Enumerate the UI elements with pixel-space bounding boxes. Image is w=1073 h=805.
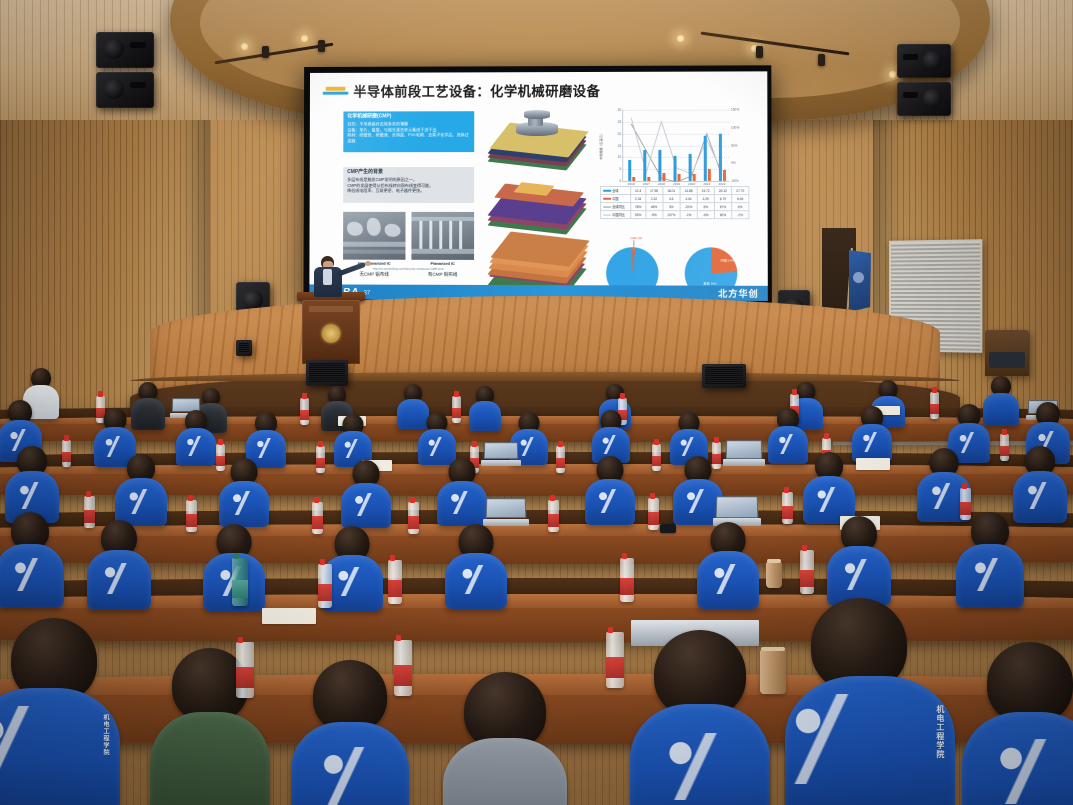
cell: 14.88 <box>680 187 697 195</box>
water-bottle[interactable] <box>300 398 309 425</box>
chart-y2-tick: 50% <box>731 143 737 147</box>
water-bottle[interactable] <box>186 500 197 532</box>
cell: -20% <box>680 203 697 211</box>
audience-member <box>700 522 756 608</box>
audience-member <box>324 526 380 610</box>
audience-member <box>118 454 164 524</box>
chart-y-tick: 30 <box>618 108 622 112</box>
chart-y-axis-title: 市场规模（亿美元） <box>598 132 603 160</box>
slide-title: 半导体前段工艺设备：化学机械研磨设备 <box>353 80 600 101</box>
table-row: 中国同比 93% -5% 107% -1% -6% 60% -2% <box>601 211 749 219</box>
ceiling-spotlight <box>240 42 249 51</box>
cell: 60% <box>714 211 731 219</box>
legend-label-global: 全球 <box>612 189 618 193</box>
audience-member-foreground: 机电工程学院 <box>800 598 940 805</box>
desk-row-3 <box>0 524 1073 564</box>
audience-member <box>960 512 1020 604</box>
table-row: 全球同比 78% 45% 3% -20% 6% 67% 6% <box>601 203 749 211</box>
audience-member <box>448 524 504 608</box>
cell: -1% <box>680 211 697 219</box>
cell: 27.79 <box>731 187 748 195</box>
track-lamp <box>262 46 269 58</box>
water-bottle[interactable] <box>930 392 939 419</box>
audience-member-foreground: 机电工程学院 <box>0 608 100 805</box>
ceiling-spotlight <box>300 34 309 43</box>
track-lamp <box>756 46 763 58</box>
legend-label-china-yoy: 中国同比 <box>612 213 625 217</box>
laptop[interactable] <box>486 498 526 526</box>
audience-member <box>830 516 888 604</box>
cmp-background-line: 降低线电阻率、互联更密、电子器件更快。 <box>347 188 470 194</box>
water-bottle[interactable] <box>312 502 323 534</box>
cell: 6% <box>697 203 714 211</box>
water-bottle[interactable] <box>606 632 624 688</box>
water-bottle[interactable] <box>782 492 793 524</box>
university-emblem <box>322 324 341 343</box>
water-bottle[interactable] <box>316 446 325 473</box>
chart-y2-tick: 100% <box>731 125 739 129</box>
cell: -6% <box>697 211 714 219</box>
audience-member <box>806 452 852 522</box>
water-bottle[interactable] <box>394 640 412 696</box>
sem-caption-right-zh: 有CMP 铜布线 <box>411 271 474 277</box>
cell: 4.25 <box>697 195 714 203</box>
chart-y2-tick: 0% <box>731 161 736 165</box>
sem-image-planarized <box>411 212 474 260</box>
tshirt-text: 机电工程学院 <box>101 714 108 756</box>
laptop[interactable] <box>484 442 518 466</box>
audience-member <box>854 406 890 460</box>
cell: 6.66 <box>732 195 749 203</box>
cell: 4.6 <box>663 195 680 203</box>
cell: 93% <box>631 211 646 219</box>
thermos-bottle[interactable] <box>232 558 248 606</box>
pie-slice-label-china: 中国 24% <box>713 257 741 262</box>
presenter <box>313 256 343 302</box>
cell: 6% <box>732 203 749 211</box>
water-bottle[interactable] <box>648 498 659 530</box>
stage-chair <box>985 330 1029 376</box>
water-bottle[interactable] <box>388 560 402 604</box>
audience-member <box>132 382 164 428</box>
sem-caption-left-zh: 无CMP 铝布线 <box>343 271 405 277</box>
chart-y-tick: 20 <box>618 132 622 136</box>
cell: 15.72 <box>697 187 714 195</box>
water-bottle[interactable] <box>620 558 634 602</box>
audience-member <box>344 460 388 526</box>
cell: 78% <box>631 203 646 211</box>
lecture-hall-photo: 半导体前段工艺设备：化学机械研磨设备 化学机械研磨(CMP) 目的：平坦表面并去… <box>0 0 1073 805</box>
wall-speaker-cabinet <box>897 44 951 78</box>
audience-member-foreground <box>970 642 1073 805</box>
water-bottle[interactable] <box>548 500 559 532</box>
sem-image-non-planarized <box>343 212 405 260</box>
laptop[interactable] <box>726 440 762 466</box>
presenter-hand <box>365 261 371 266</box>
cell: 17.98 <box>645 187 662 195</box>
water-bottle[interactable] <box>408 502 419 534</box>
audience-member <box>420 412 454 464</box>
audience-member-foreground <box>450 672 560 805</box>
chart-y-tick: 5 <box>619 167 621 171</box>
smartphone[interactable] <box>660 524 676 533</box>
cell: 3% <box>663 203 680 211</box>
blue-flag <box>849 250 871 312</box>
table-row: 全球 12.4 17.98 18.01 14.88 15.72 26.32 27… <box>601 187 749 195</box>
chart-yoy-lines <box>623 110 730 182</box>
water-bottle[interactable] <box>556 446 565 473</box>
wall-speaker-cabinet <box>897 82 951 116</box>
audience-member <box>676 456 720 524</box>
sem-caption-right: Planarized IC <box>411 261 474 266</box>
audience-member <box>1016 446 1064 520</box>
projection-screen: 半导体前段工艺设备：化学机械研磨设备 化学机械研磨(CMP) 目的：平坦表面并去… <box>303 65 771 305</box>
audience-member-foreground <box>640 630 760 805</box>
notebook[interactable] <box>262 608 316 624</box>
audience-member <box>588 456 632 524</box>
cell: 26.32 <box>714 187 731 195</box>
legend-label-global-yoy: 全球同比 <box>612 205 625 209</box>
lectern <box>300 292 362 364</box>
paper-cup[interactable] <box>760 650 786 694</box>
cmp-market-chart: 市场规模（亿美元） 30 25 20 15 10 5 0 150% 100% 5… <box>600 108 749 237</box>
cell: 45% <box>645 203 662 211</box>
audience-member <box>222 458 266 526</box>
water-bottle[interactable] <box>62 440 71 467</box>
chart-y2-tick: 150% <box>731 108 739 112</box>
cell: 18.01 <box>663 187 680 195</box>
audience-member <box>440 458 484 524</box>
cmp-background-heading: CMP产生的背景 <box>347 170 470 176</box>
wall-speaker-cabinet <box>96 72 154 108</box>
chart-data-table: 全球 12.4 17.98 18.01 14.88 15.72 26.32 27… <box>600 186 749 219</box>
cmp-definition-heading: 化学机械研磨(CMP) <box>347 114 470 120</box>
water-bottle[interactable] <box>1000 434 1009 461</box>
audience-member <box>594 410 628 462</box>
cell: 4.04 <box>680 195 697 203</box>
naura-chinese-brand: 北方华创 <box>718 287 759 300</box>
cmp-definition-line: 耗材：研磨垫、研磨液、含铜盘、PVA毛刷、去离子化学品、流体过滤器 <box>347 132 470 143</box>
audience-member <box>178 410 214 464</box>
notebook[interactable] <box>856 458 890 470</box>
table-row: 中国 2.34 2.22 4.6 4.04 4.25 6.79 6.66 <box>601 195 749 203</box>
audience-member <box>90 520 148 608</box>
audience-member <box>984 376 1018 424</box>
stage-monitor-speaker <box>236 340 252 356</box>
audience-member <box>770 408 806 462</box>
cmp-background-box: CMP产生的背景 多层布线是触发CMP发明的原因之一， CMP的发展使得从铝布线… <box>343 167 474 203</box>
cell: 2.22 <box>645 195 662 203</box>
wafer-cross-section-3d-illustration <box>486 180 594 228</box>
audience-member <box>0 512 60 604</box>
chart-y-tick: 10 <box>618 155 622 159</box>
cmp-polisher-3d-illustration <box>486 110 594 172</box>
audience-member <box>8 446 56 520</box>
chart-y-tick: 25 <box>618 120 622 124</box>
tshirt-text: 机电工程学院 <box>935 705 945 759</box>
chart-plot-area: 30 25 20 15 10 5 0 150% 100% 50% 0% -50% <box>622 110 729 182</box>
multilayer-interconnect-3d-illustration <box>486 234 594 286</box>
ceiling-spotlight <box>676 34 685 43</box>
chart-y2-tick: -50% <box>731 179 739 183</box>
cell: 12.4 <box>631 187 646 195</box>
track-lamp <box>318 40 325 52</box>
pie-callout-cmp: CMP 2% <box>630 236 642 240</box>
slide-title-bar: 半导体前段工艺设备：化学机械研磨设备 <box>323 80 601 101</box>
paper-cup[interactable] <box>766 562 782 588</box>
cell: -5% <box>645 211 662 219</box>
chart-y-tick: 0 <box>619 179 621 183</box>
title-accent-marks <box>323 87 349 95</box>
legend-label-china: 中国 <box>612 197 618 201</box>
water-bottle[interactable] <box>800 550 814 594</box>
chart-y-tick: 15 <box>618 143 622 147</box>
audience-seating: 机电工程学院 机电工程学院 <box>0 372 1073 805</box>
cell: -2% <box>732 211 749 219</box>
wall-speaker-cabinet <box>96 32 154 68</box>
presentation-slide: 半导体前段工艺设备：化学机械研磨设备 化学机械研磨(CMP) 目的：平坦表面并去… <box>309 71 767 301</box>
cell: 67% <box>714 203 731 211</box>
audience-member-foreground <box>300 660 400 805</box>
cell: 6.79 <box>714 195 731 203</box>
lectern-plaque <box>309 306 353 312</box>
water-bottle[interactable] <box>318 564 332 608</box>
audience-member <box>336 414 370 466</box>
ceiling-spotlight <box>888 70 897 79</box>
cell: 2.34 <box>631 195 646 203</box>
cell: 107% <box>663 211 680 219</box>
track-lamp <box>818 54 825 66</box>
cmp-definition-box: 化学机械研磨(CMP) 目的：平坦表面并去除多余的薄膜 设备：单片、盘旋，与抛光… <box>343 111 474 152</box>
audience-member <box>470 386 500 430</box>
water-bottle[interactable] <box>236 642 254 698</box>
water-bottle[interactable] <box>652 444 661 471</box>
